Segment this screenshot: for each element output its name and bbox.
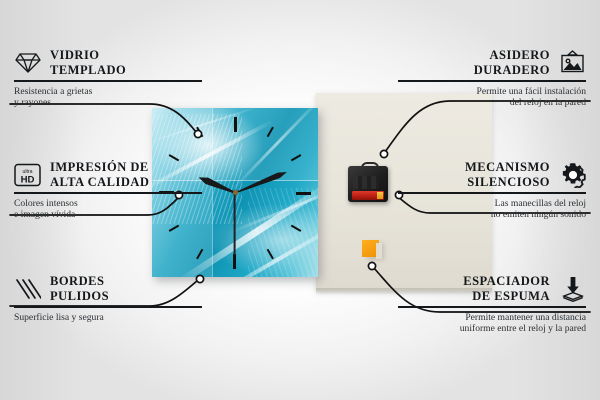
feature-asidero-duradero: ASIDERO DURADERO Permite una fácil insta… [398,48,586,108]
picture-frame-icon [559,49,586,76]
foam-spacer [362,240,379,257]
divider [14,306,202,308]
clock-mechanism [348,162,388,202]
ultra-hd-icon: ultra HD [14,161,41,188]
feature-title: BORDES PULIDOS [50,274,109,303]
feature-description: Las manecillas del reloj no emiten ningú… [398,198,586,221]
mechanism-body [348,166,388,202]
feature-description: Resistencia a grietas y rayones [14,86,202,109]
battery [352,191,384,200]
feature-mecanismo-silencioso: MECANISMO SILENCIOSO Las manecillas del … [398,160,586,220]
divider [14,192,202,194]
svg-text:HD: HD [21,174,35,185]
feature-description: Permite mantener una distancia uniforme … [398,312,586,335]
down-arrow-stack-icon [559,275,586,302]
gear-icon [559,161,586,188]
clock-center-cap [233,190,238,195]
feature-description: Colores intensos e imagen vívida [14,198,202,221]
feature-title: MECANISMO SILENCIOSO [465,160,550,189]
feature-description: Superficie lisa y segura [14,312,202,323]
feature-impresion-alta-calidad: ultra HD IMPRESIÓN DE ALTA CALIDAD Color… [14,160,202,220]
mechanism-detail [353,176,379,189]
infographic-canvas: VIDRIO TEMPLADO Resistencia a grietas y … [0,0,600,400]
feature-title: ASIDERO DURADERO [474,48,550,77]
feature-espaciador-de-espuma: ESPACIADOR DE ESPUMA Permite mantener un… [398,274,586,334]
divider [14,80,202,82]
feature-description: Permite una fácil instalación del reloj … [398,86,586,109]
divider [398,80,586,82]
feature-vidrio-templado: VIDRIO TEMPLADO Resistencia a grietas y … [14,48,202,108]
feature-title: VIDRIO TEMPLADO [50,48,126,77]
clock-tick-3 [235,192,311,194]
feature-title: ESPACIADOR DE ESPUMA [463,274,550,303]
clock-second-hand [234,193,236,255]
divider [398,192,586,194]
diamond-icon [14,49,41,76]
clock-tick-12 [234,117,236,193]
diagonal-lines-icon [14,275,41,302]
feature-bordes-pulidos: BORDES PULIDOS Superficie lisa y segura [14,274,202,323]
divider [398,306,586,308]
feature-title: IMPRESIÓN DE ALTA CALIDAD [50,160,149,189]
